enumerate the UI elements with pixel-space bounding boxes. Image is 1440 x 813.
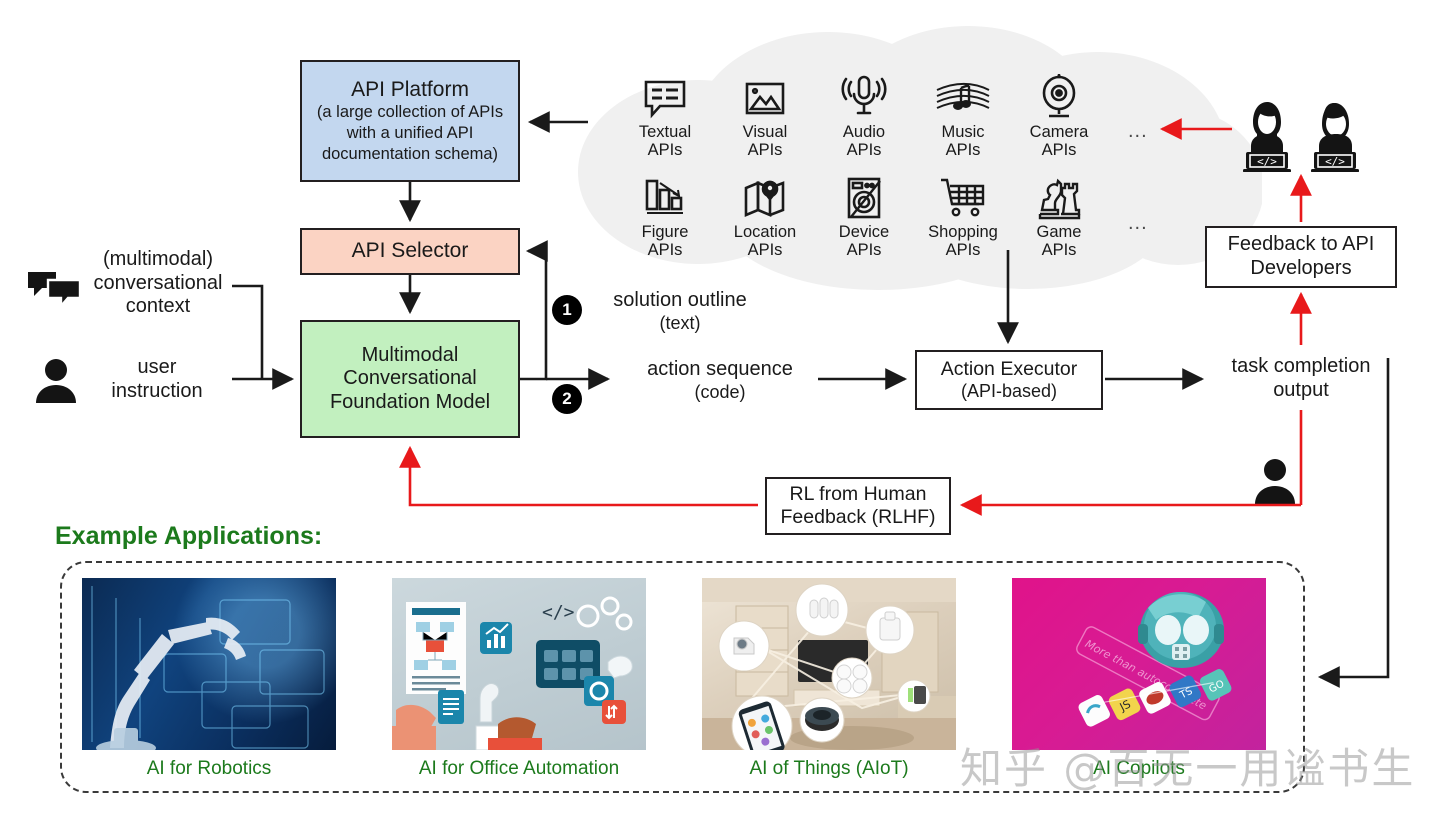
arrow-rlhf-to-model bbox=[410, 448, 758, 505]
copilot-thumbnail: More than autocomplete JS TS GO bbox=[1012, 578, 1266, 750]
svg-text:</>: </> bbox=[542, 602, 575, 623]
line-context-to-model bbox=[232, 286, 262, 379]
example-item-robotics[interactable]: AI for Robotics bbox=[82, 578, 336, 780]
office-automation-thumbnail: </> bbox=[392, 578, 646, 750]
example-item-office[interactable]: </> AI for Office Automation bbox=[392, 578, 646, 780]
aiot-thumbnail bbox=[702, 578, 956, 750]
example-caption: AI for Office Automation bbox=[392, 758, 646, 780]
example-item-aiot[interactable]: AI of Things (AIoT) bbox=[702, 578, 956, 780]
robotics-thumbnail bbox=[82, 578, 336, 750]
examples-heading: Example Applications: bbox=[55, 522, 322, 551]
example-caption: AI of Things (AIoT) bbox=[702, 758, 956, 780]
watermark-text: 知乎 @百无一用谧书生 bbox=[960, 735, 1415, 796]
arrow-output-to-examples bbox=[1320, 358, 1388, 677]
example-caption: AI for Robotics bbox=[82, 758, 336, 780]
arrow-model-to-selector-loop bbox=[520, 251, 546, 379]
